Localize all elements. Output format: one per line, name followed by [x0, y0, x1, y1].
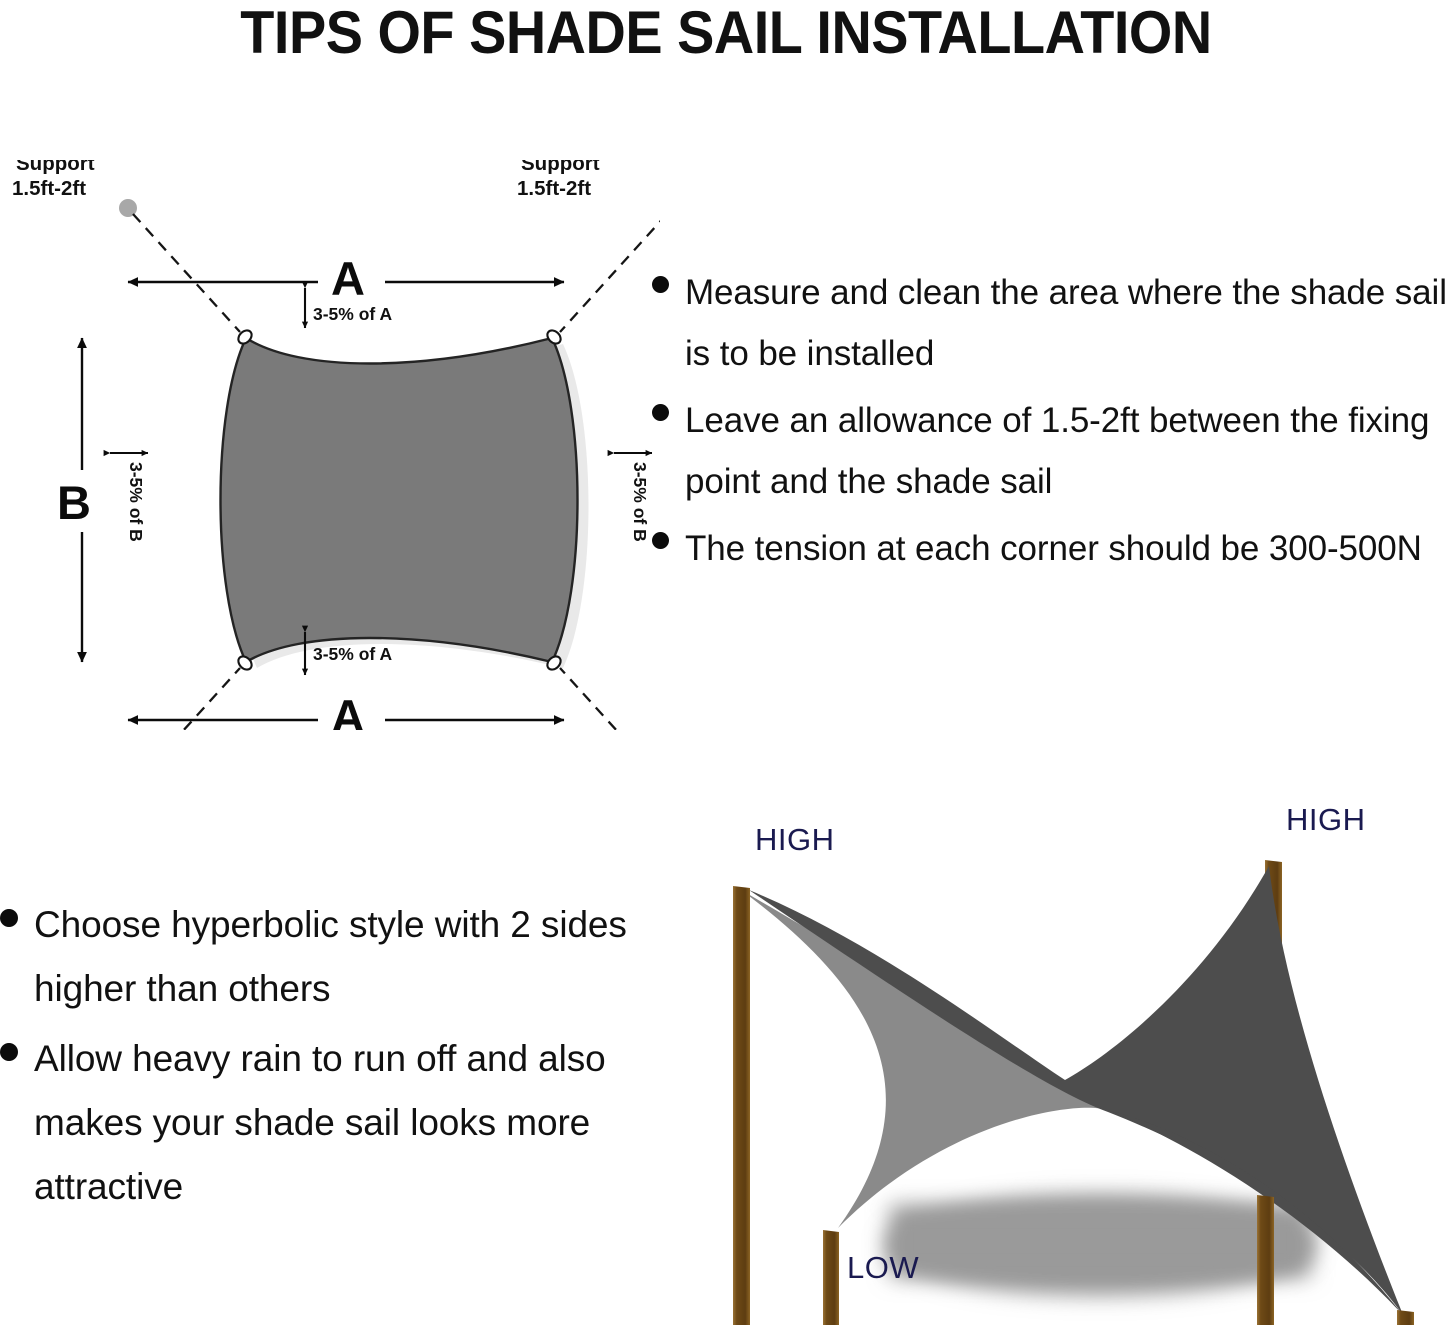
- tip-text: Choose hyperbolic style with 2 sides hig…: [34, 893, 640, 1021]
- list-item: Leave an allowance of 1.5-2ft between th…: [652, 390, 1452, 512]
- svg-text:Support: Support: [521, 160, 600, 175]
- svg-text:3-5% of B: 3-5% of B: [126, 462, 146, 542]
- rectangular-sail-diagram: Support 1.5ft-2ft Support 1.5ft-2ft Supp…: [0, 160, 660, 730]
- bullet-dot-icon: [652, 404, 669, 421]
- svg-text:1.5ft-2ft: 1.5ft-2ft: [517, 177, 591, 200]
- shade-sail-body: [221, 338, 578, 662]
- bullet-dot-icon: [652, 276, 669, 293]
- dimension-a-top: A: [128, 252, 564, 305]
- support-label-top-left: Support 1.5ft-2ft: [12, 160, 95, 200]
- cable-top-left: [133, 214, 240, 332]
- curvature-note-right: 3-5% of B: [614, 453, 652, 542]
- tip-text: Leave an allowance of 1.5-2ft between th…: [685, 390, 1452, 512]
- list-item: Allow heavy rain to run off and also mak…: [0, 1027, 640, 1219]
- label-low-left: LOW: [847, 1250, 919, 1285]
- pole-low-right: [1397, 1310, 1414, 1325]
- dimension-a-bottom: A: [128, 690, 564, 730]
- pole-low-left: [823, 1230, 839, 1325]
- svg-text:3-5% of B: 3-5% of B: [630, 462, 650, 542]
- installation-tips-list: Measure and clean the area where the sha…: [652, 262, 1452, 585]
- pole-high-left: [733, 886, 750, 1325]
- svg-text:3-5% of A: 3-5% of A: [313, 644, 392, 664]
- hyperbolic-tips-list: Choose hyperbolic style with 2 sides hig…: [0, 893, 640, 1225]
- support-label-top-right: Support 1.5ft-2ft: [517, 160, 600, 200]
- dimension-a-bottom-label: A: [331, 690, 365, 730]
- bullet-dot-icon: [0, 1043, 18, 1061]
- sail-surface-light: [741, 890, 1108, 1228]
- svg-text:1.5ft-2ft: 1.5ft-2ft: [12, 177, 86, 200]
- label-high-left: HIGH: [755, 822, 835, 857]
- list-item: The tension at each corner should be 300…: [652, 518, 1452, 579]
- ground-shadow-block: [890, 1205, 1310, 1277]
- dimension-b-left-label: B: [57, 476, 91, 529]
- cable-bottom-right: [560, 668, 660, 730]
- dimension-a-top-label: A: [331, 252, 365, 305]
- tip-text: Measure and clean the area where the sha…: [685, 262, 1452, 384]
- bullet-dot-icon: [652, 532, 669, 549]
- svg-text:3-5% of A: 3-5% of A: [313, 304, 392, 324]
- pole-mid-right: [1257, 1195, 1274, 1325]
- infographic-page: TIPS OF SHADE SAIL INSTALLATION: [0, 0, 1452, 1325]
- list-item: Choose hyperbolic style with 2 sides hig…: [0, 893, 640, 1021]
- label-high-right: HIGH: [1286, 802, 1366, 837]
- list-item: Measure and clean the area where the sha…: [652, 262, 1452, 384]
- dimension-b-left: B: [57, 338, 91, 662]
- page-title: TIPS OF SHADE SAIL INSTALLATION: [51, 2, 1401, 64]
- cable-top-right: [560, 214, 660, 332]
- curvature-note-left: 3-5% of B: [110, 453, 148, 542]
- tip-text: The tension at each corner should be 300…: [685, 518, 1452, 579]
- hyperbolic-sail-diagram: HIGH HIGH LOW LOW: [645, 790, 1452, 1325]
- tip-text: Allow heavy rain to run off and also mak…: [34, 1027, 640, 1219]
- svg-text:Support: Support: [16, 160, 95, 175]
- bullet-dot-icon: [0, 909, 18, 927]
